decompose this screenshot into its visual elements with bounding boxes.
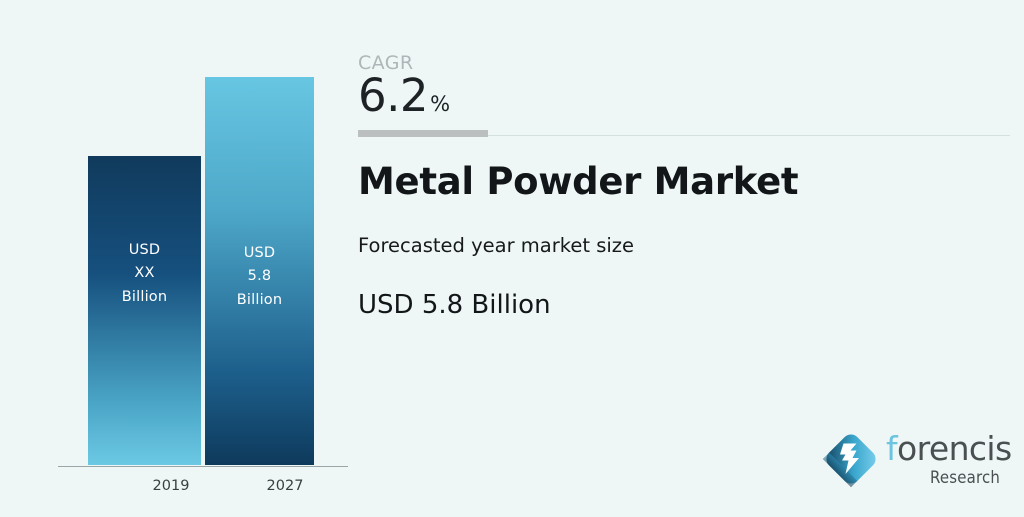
bar-2027-label-line2: 5.8 <box>205 265 314 288</box>
cagr-number: 6.2 <box>358 73 428 118</box>
bar-2027-label: USD 5.8 Billion <box>205 242 314 312</box>
forecast-value: USD 5.8 Billion <box>358 290 551 320</box>
bar-2027-label-line1: USD <box>205 242 314 265</box>
bar-2019-label: USD XX Billion <box>88 239 201 309</box>
bar-2027-label-line3: Billion <box>205 289 314 312</box>
logo-wordmark-rest: orencis <box>897 429 1012 468</box>
logo-wordmark: forencis <box>886 432 1012 465</box>
forencis-research-logo: forencis Research <box>820 424 1010 500</box>
logo-wordmark-initial: f <box>886 429 897 468</box>
x-axis-line <box>58 466 348 467</box>
x-axis-tick-2027: 2027 <box>230 478 340 494</box>
page-title: Metal Powder Market <box>358 160 798 203</box>
cagr-value: 6.2 % <box>358 73 450 118</box>
divider <box>358 130 1010 137</box>
forecast-caption: Forecasted year market size <box>358 234 634 257</box>
bar-chart: USD XX Billion USD 5.8 Billion 2019 2027 <box>0 0 350 517</box>
divider-accent-segment <box>358 130 488 137</box>
market-infographic: USD XX Billion USD 5.8 Billion 2019 2027… <box>0 0 1024 517</box>
forencis-diamond-icon <box>820 428 882 490</box>
logo-subtitle: Research <box>930 468 1000 488</box>
bar-2019-label-line2: XX <box>88 262 201 285</box>
bar-2027: USD 5.8 Billion <box>205 77 314 465</box>
bar-2019-label-line1: USD <box>88 239 201 262</box>
cagr-percent-sign: % <box>430 94 450 115</box>
bar-2019: USD XX Billion <box>88 156 201 465</box>
x-axis-tick-labels: 2019 2027 <box>58 478 348 504</box>
x-axis-tick-2019: 2019 <box>116 478 226 494</box>
bar-2019-label-line3: Billion <box>88 286 201 309</box>
